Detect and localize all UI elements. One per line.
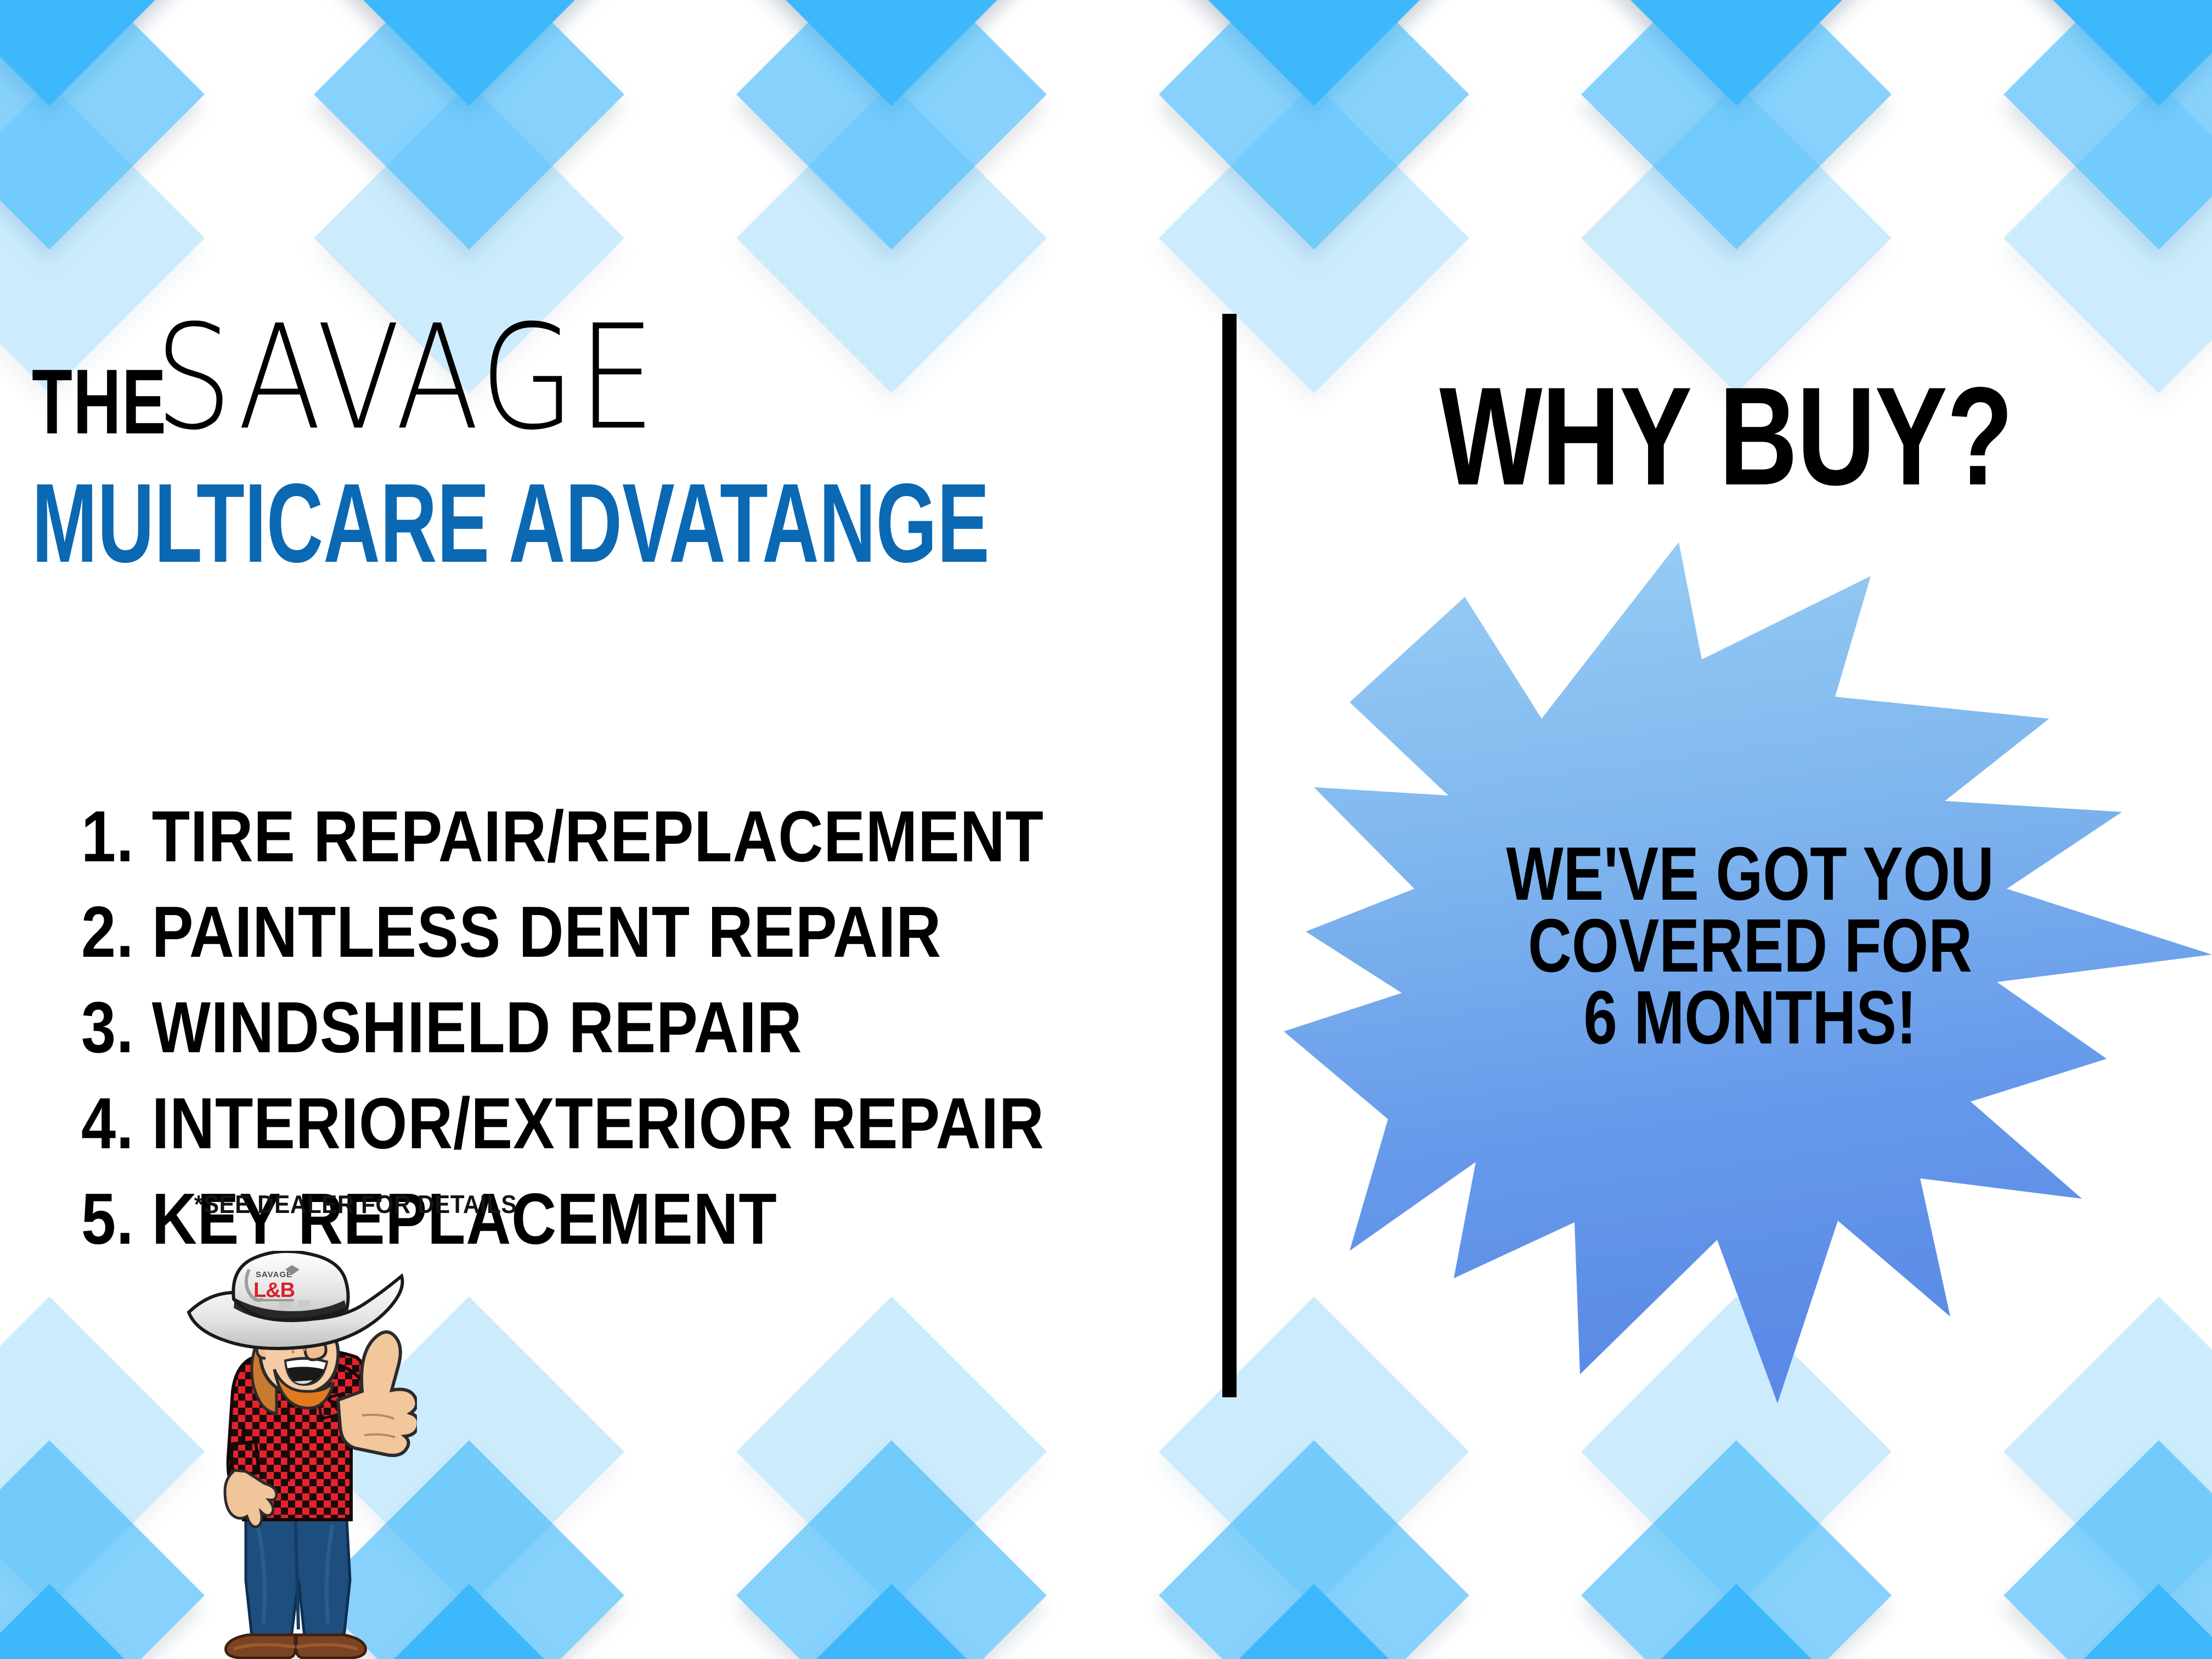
starburst-text: WE'VE GOT YOU COVERED FOR 6 MONTHS!	[1377, 838, 2123, 1054]
title-block: THE SAVAGE MULTICARE ADVATANGE	[32, 321, 1184, 588]
page-title-why-buy: WHY BUY?	[1347, 366, 2105, 506]
list-item: 3. WINDSHIELD REPAIR	[81, 980, 1025, 1075]
burst-line: WE'VE GOT YOU	[1377, 838, 2123, 910]
mascot-cowboy-hat: SAVAGE L&B	[189, 1251, 403, 1348]
hat-logo: SAVAGE L&B	[253, 1265, 300, 1302]
title-word-the: THE	[32, 360, 167, 443]
disclaimer-text: *SEE DEALER FOR DETAILS	[103, 1189, 608, 1219]
title-row-primary: THE SAVAGE	[32, 321, 1184, 443]
poster-canvas: THE SAVAGE MULTICARE ADVATANGE 1. TIRE R…	[0, 0, 2212, 1659]
hat-logo-initials: L&B	[253, 1279, 295, 1302]
mascot-boots	[226, 1635, 366, 1658]
right-panel: WHY BUY? WE'VE GOT YOU COVERED FOR 6 MON…	[1240, 0, 2212, 1659]
burst-line: 6 MONTHS!	[1377, 982, 2123, 1054]
mascot-cowboy-illustration: SAVAGE L&B	[181, 1251, 417, 1659]
burst-line: COVERED FOR	[1377, 910, 2123, 982]
hat-logo-brand: SAVAGE	[256, 1270, 292, 1279]
title-subtitle-multicare: MULTICARE ADVATANGE	[32, 459, 990, 588]
vertical-divider	[1222, 314, 1237, 1397]
starburst-badge: WE'VE GOT YOU COVERED FOR 6 MONTHS!	[1284, 538, 2212, 1404]
list-item: 1. TIRE REPAIR/REPLACEMENT	[81, 789, 1025, 884]
list-item: 2. PAINTLESS DENT REPAIR	[81, 884, 1025, 980]
list-item: 4. INTERIOR/EXTERIOR REPAIR	[81, 1076, 1025, 1171]
title-word-savage: SAVAGE	[155, 314, 658, 444]
cowboy-mascot-icon: SAVAGE L&B	[181, 1251, 417, 1659]
